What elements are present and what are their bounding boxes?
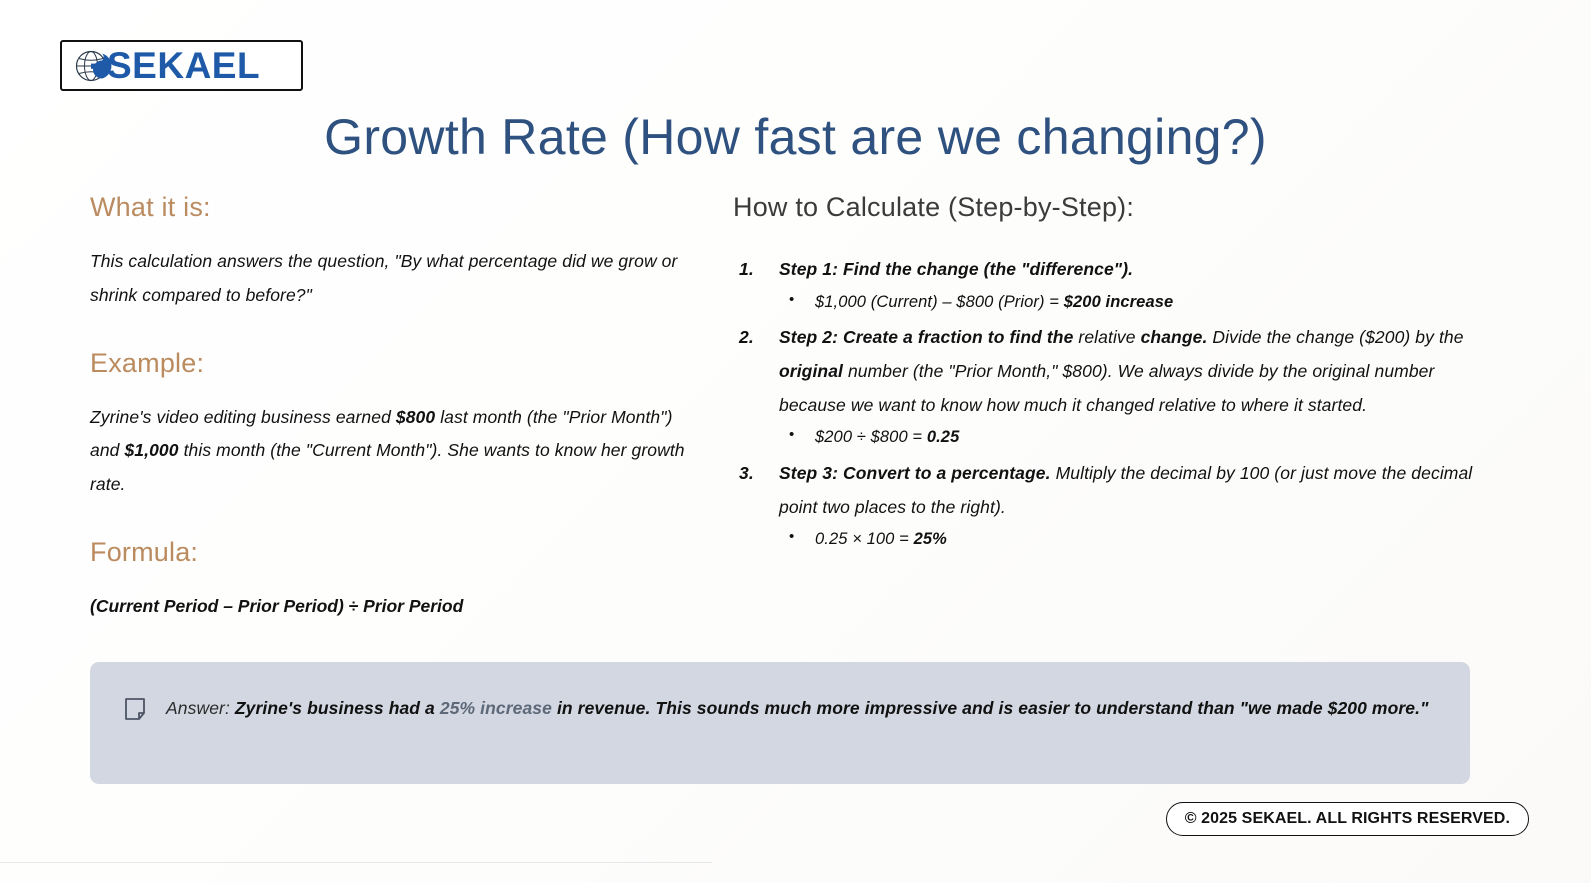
answer-bold-part1: Zyrine's business had a xyxy=(235,698,440,718)
answer-text: Answer: Zyrine's business had a 25% incr… xyxy=(166,692,1428,725)
step-item-2: Step 2: Create a fraction to find the re… xyxy=(779,321,1473,454)
step-2-mid-plain: relative xyxy=(1078,327,1140,347)
what-it-is-body: This calculation answers the question, "… xyxy=(90,245,700,313)
logo-wordmark: SEKAEL xyxy=(107,47,260,84)
list-item: $1,000 (Current) – $800 (Prior) = $200 i… xyxy=(815,287,1473,318)
answer-label: Answer: xyxy=(166,698,235,718)
brand-logo: SEKAEL xyxy=(60,40,303,91)
example-body: Zyrine's video editing business earned $… xyxy=(90,401,700,502)
page-title: Growth Rate (How fast are we changing?) xyxy=(0,108,1591,166)
step-1-bullets: $1,000 (Current) – $800 (Prior) = $200 i… xyxy=(779,287,1473,318)
answer-highlight: 25% increase xyxy=(440,698,552,718)
formula-heading: Formula: xyxy=(90,537,700,568)
step-2-bullets: $200 ÷ $800 = 0.25 xyxy=(779,422,1473,453)
step-1-bullet-bold: $200 increase xyxy=(1064,293,1174,311)
answer-callout: Answer: Zyrine's business had a 25% incr… xyxy=(90,662,1470,784)
example-heading: Example: xyxy=(90,348,700,379)
example-amount-current: $1,000 xyxy=(124,440,178,460)
step-3-lead: Step 3: Convert to a percentage. xyxy=(779,463,1051,483)
how-to-calculate-heading: How to Calculate (Step-by-Step): xyxy=(733,192,1473,223)
step-2-bullet-bold: 0.25 xyxy=(927,428,960,446)
step-3-bullet-bold: 25% xyxy=(914,530,947,548)
step-2-bullet-plain: $200 ÷ $800 = xyxy=(815,428,927,446)
globe-icon xyxy=(72,45,114,87)
step-2-rest: Divide the change ($200) by the xyxy=(1207,327,1463,347)
step-1-bullet-plain: $1,000 (Current) – $800 (Prior) = xyxy=(815,293,1064,311)
bottom-divider xyxy=(0,862,712,863)
example-text-part3: this month (the "Current Month"). She wa… xyxy=(90,440,685,494)
step-2-rest2: number (the "Prior Month," $800). We alw… xyxy=(779,361,1434,415)
step-item-3: Step 3: Convert to a percentage. Multipl… xyxy=(779,457,1473,556)
answer-bold-part2: in revenue. This sounds much more impres… xyxy=(552,698,1429,718)
slide-canvas: SEKAEL Growth Rate (How fast are we chan… xyxy=(0,0,1591,883)
formula-expression: (Current Period – Prior Period) ÷ Prior … xyxy=(90,590,700,623)
list-item: $200 ÷ $800 = 0.25 xyxy=(815,422,1473,453)
copyright-text: © 2025 SEKAEL. ALL RIGHTS RESERVED. xyxy=(1185,810,1510,828)
steps-list: Step 1: Find the change (the "difference… xyxy=(733,253,1473,556)
right-column: How to Calculate (Step-by-Step): Step 1:… xyxy=(733,192,1473,559)
note-icon xyxy=(124,697,146,721)
step-1-lead: Step 1: Find the change (the "difference… xyxy=(779,259,1133,279)
step-3-bullets: 0.25 × 100 = 25% xyxy=(779,524,1473,555)
example-amount-prior: $800 xyxy=(396,407,435,427)
left-column: What it is: This calculation answers the… xyxy=(90,192,700,623)
step-2-lead: Step 2: Create a fraction to find the xyxy=(779,327,1078,347)
example-text-part1: Zyrine's video editing business earned xyxy=(90,407,396,427)
step-2-bold-mid: change. xyxy=(1141,327,1208,347)
step-item-1: Step 1: Find the change (the "difference… xyxy=(779,253,1473,318)
what-it-is-heading: What it is: xyxy=(90,192,700,223)
copyright-badge: © 2025 SEKAEL. ALL RIGHTS RESERVED. xyxy=(1166,802,1529,836)
step-2-bold-word: original xyxy=(779,361,843,381)
list-item: 0.25 × 100 = 25% xyxy=(815,524,1473,555)
step-3-bullet-plain: 0.25 × 100 = xyxy=(815,530,914,548)
